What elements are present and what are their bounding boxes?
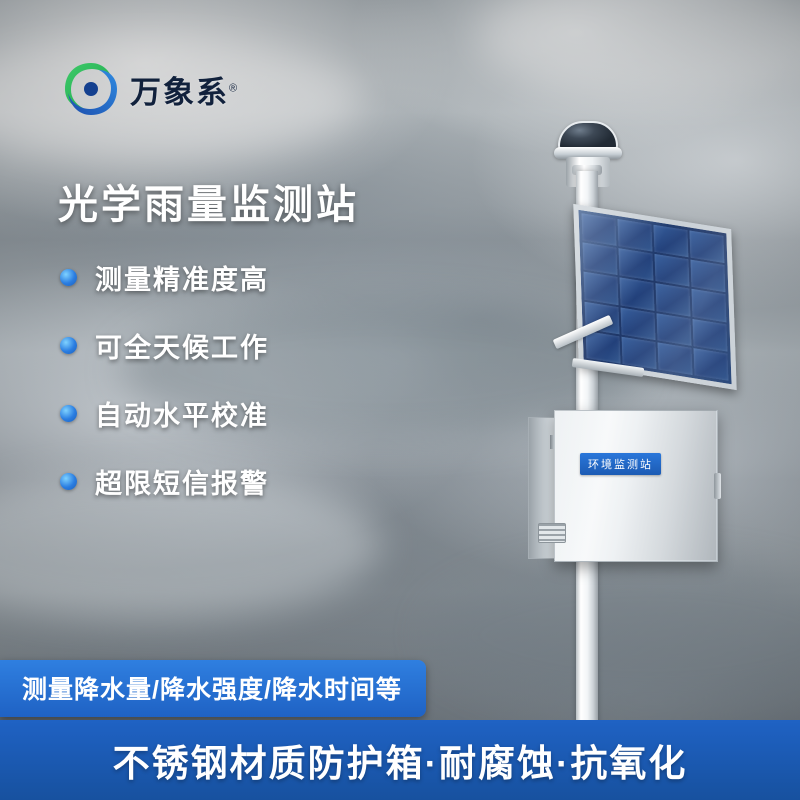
blue-dot-icon xyxy=(60,337,77,354)
feature-label: 可全天候工作 xyxy=(95,326,269,365)
brand-name: 万象系® xyxy=(130,67,237,112)
list-item: 测量精准度高 xyxy=(60,258,269,297)
feature-label: 自动水平校准 xyxy=(95,394,269,433)
blue-dot-icon xyxy=(60,405,77,422)
brand-logo: 万象系® xyxy=(62,60,237,118)
blue-dot-icon xyxy=(60,269,77,286)
blue-dot-icon xyxy=(60,473,77,490)
list-item: 可全天候工作 xyxy=(60,326,269,365)
list-item: 超限短信报警 xyxy=(60,462,269,501)
trademark-symbol: ® xyxy=(229,82,237,94)
feature-label: 测量精准度高 xyxy=(95,258,269,297)
vent-grille-icon xyxy=(538,523,566,543)
weather-station-illustration: 环境监测站 xyxy=(430,105,800,725)
bottom-banner-text: 不锈钢材质防护箱·耐腐蚀·抗氧化 xyxy=(113,733,688,787)
list-item: 自动水平校准 xyxy=(60,394,269,433)
feature-label: 超限短信报警 xyxy=(95,462,269,501)
brand-name-text: 万象系 xyxy=(130,75,229,110)
page-title: 光学雨量监测站 xyxy=(58,172,359,230)
door-latch-icon xyxy=(714,473,721,499)
feature-list: 测量精准度高 可全天候工作 自动水平校准 超限短信报警 xyxy=(60,258,269,530)
enclosure-hinge-top xyxy=(550,435,555,449)
swirl-logo-icon xyxy=(62,60,120,118)
poster-canvas: 环境监测站 万象系® 光学雨量监测站 xyxy=(0,0,800,800)
bottom-banner: 不锈钢材质防护箱·耐腐蚀·抗氧化 xyxy=(0,720,800,800)
enclosure-label: 环境监测站 xyxy=(580,453,661,475)
callout-pill: 测量降水量/降水强度/降水时间等 xyxy=(0,660,426,717)
stainless-enclosure-icon xyxy=(554,410,718,562)
